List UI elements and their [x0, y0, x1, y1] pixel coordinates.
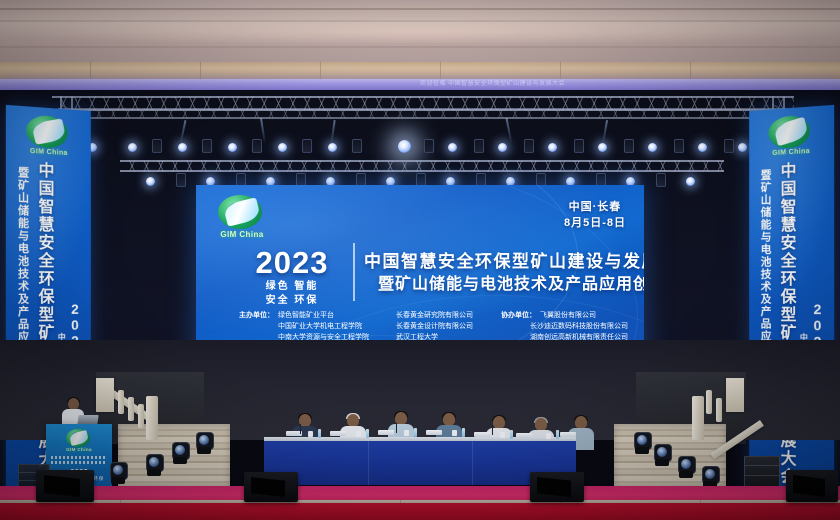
lighting-truss-lower [120, 160, 724, 172]
balustrade-post-right [692, 396, 704, 440]
gim-china-logo-text: GIM China [212, 230, 272, 239]
flight-case-right [744, 456, 780, 488]
moving-head-light-2 [146, 454, 162, 476]
floor-monitor-1 [36, 470, 94, 502]
banner-right-title-sub: 暨矿山储能与电池技术及产品应用创新论坛 [757, 169, 772, 491]
podium-title-line-1 [51, 456, 107, 459]
moving-head-light-3 [172, 442, 188, 464]
floor-monitor-2 [244, 472, 298, 502]
led-ticker-text: 欢迎莅临 中国智慧安全环保型矿山建设与发展大会 [420, 80, 680, 89]
banner-right-logo: GIM China [764, 114, 819, 161]
screen-location-dates: 中国·长春 8月5日-8日 [564, 199, 626, 231]
gim-china-logo: GIM China [212, 195, 272, 245]
floor-monitor-4 [786, 470, 838, 502]
moving-head-light-7 [678, 456, 694, 478]
moving-head-light-4 [196, 432, 212, 454]
ceiling-cornice [0, 62, 840, 80]
screen-location: 中国·长春 [564, 199, 626, 215]
slogan-line-2: 安全 环保 [238, 294, 346, 308]
host-org-2: 中国矿业大学机电工程学院 [274, 321, 396, 332]
coorg-2: 长沙迪迈数码科技股份有限公司 [526, 321, 628, 332]
slogan-line-1: 绿色 智能 [238, 280, 346, 294]
banner-left-title-sub: 暨矿山储能与电池技术及产品应用创新论坛 [14, 166, 30, 494]
moving-head-light-5 [634, 432, 650, 454]
key-spotlight [398, 140, 411, 153]
screen-year: 2023 [238, 247, 346, 279]
banner-left-logo: GIM China [21, 114, 76, 161]
banner-left-logo-text: GIM China [21, 147, 76, 157]
podium-logo: GIM China [63, 429, 95, 454]
banner-right-logo-text: GIM China [764, 147, 819, 157]
hall-ceiling [0, 0, 840, 62]
stage-carpet-red [0, 503, 840, 520]
balustrade-pillar-right [726, 378, 744, 412]
lighting-truss-upper-back [58, 108, 788, 119]
coorg-1: 飞翼股份有限公司 [536, 310, 596, 321]
banner-right: GIM China 2023 中国·长春 中国智慧安全环保型矿山建设与发展大会 … [749, 105, 834, 499]
conference-title-main: 中国智慧安全环保型矿山建设与发展大会 [364, 247, 644, 272]
screen-dates: 8月5日-8日 [564, 215, 626, 231]
podium-logo-text: GIM China [63, 447, 95, 452]
conference-title-sub: 暨矿山储能与电池技术及产品应用创新论坛 [378, 270, 644, 294]
moving-head-light-6 [654, 444, 670, 466]
coorg-label: 协办单位： [488, 310, 536, 321]
balustrade-pillar-left [96, 378, 114, 412]
screen-slogan: 绿色 智能 安全 环保 [238, 280, 346, 308]
host-org-1: 绿色智能矿业平台 [274, 310, 396, 321]
balustrade-post-left [146, 396, 158, 440]
conference-stage-photo: 欢迎莅临 中国智慧安全环保型矿山建设与发展大会 [0, 0, 840, 520]
title-divider [353, 243, 355, 301]
banner-right-title-main: 中国智慧安全环保型矿山建设与发展大会 [774, 162, 798, 493]
floor-monitor-3 [530, 472, 584, 502]
moving-head-light-8 [702, 466, 718, 488]
host-label: 主办单位： [220, 310, 274, 321]
podium-title-line-2 [51, 461, 107, 464]
moving-head-light-1 [110, 462, 126, 484]
